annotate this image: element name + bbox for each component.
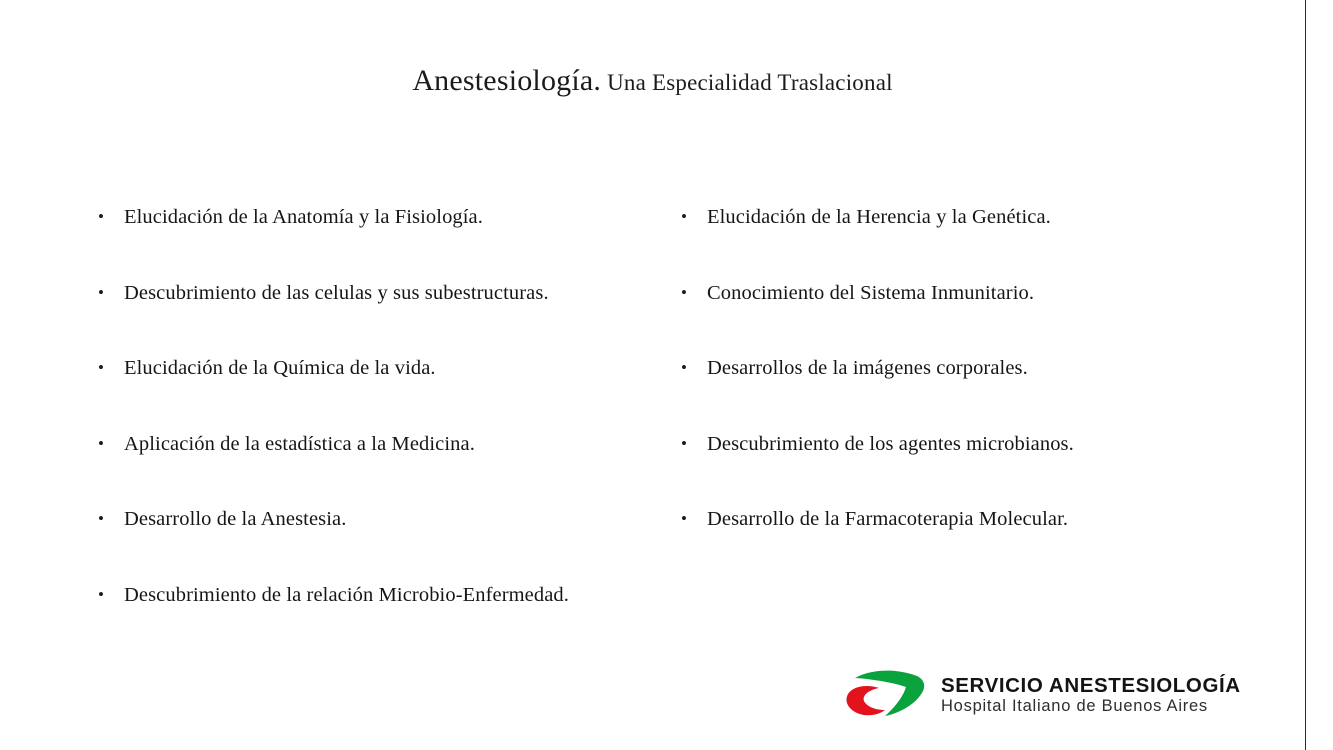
list-item: • Elucidación de la Anatomía y la Fisiol… (98, 204, 668, 280)
list-item: • Elucidación de la Herencia y la Genéti… (681, 204, 1241, 280)
list-item-label: Elucidación de la Anatomía y la Fisiolog… (124, 204, 668, 230)
bullet-icon: • (98, 431, 124, 457)
bullet-icon: • (98, 204, 124, 230)
list-item: • Descubrimiento de la relación Microbio… (98, 582, 668, 658)
list-item: • Conocimiento del Sistema Inmunitario. (681, 280, 1241, 356)
list-item-label: Conocimiento del Sistema Inmunitario. (707, 280, 1241, 306)
list-item: • Desarrollos de la imágenes corporales. (681, 355, 1241, 431)
list-item-label: Descubrimiento de la relación Microbio-E… (124, 582, 668, 608)
slide-canvas: Anestesiología.Una Especialidad Traslaci… (0, 0, 1333, 750)
list-item: • Aplicación de la estadística a la Medi… (98, 431, 668, 507)
list-item: • Desarrollo de la Anestesia. (98, 506, 668, 582)
list-item-label: Desarrollo de la Farmacoterapia Molecula… (707, 506, 1241, 532)
bullet-icon: • (681, 431, 707, 457)
list-item-label: Descubrimiento de las celulas y sus sube… (124, 280, 668, 306)
bullet-icon: • (681, 506, 707, 532)
list-item-label: Elucidación de la Química de la vida. (124, 355, 668, 381)
list-item: • Descubrimiento de las celulas y sus su… (98, 280, 668, 356)
list-item-label: Desarrollo de la Anestesia. (124, 506, 668, 532)
bullet-column-right: • Elucidación de la Herencia y la Genéti… (681, 204, 1241, 582)
bullet-icon: • (681, 204, 707, 230)
page-title: Anestesiología.Una Especialidad Traslaci… (0, 66, 1305, 96)
logo-subtitle: Hospital Italiano de Buenos Aires (941, 697, 1268, 716)
list-item: • Descubrimiento de los agentes microbia… (681, 431, 1241, 507)
list-item-label: Descubrimiento de los agentes microbiano… (707, 431, 1241, 457)
bullet-column-left: • Elucidación de la Anatomía y la Fisiol… (98, 204, 668, 657)
bullet-icon: • (98, 506, 124, 532)
leaf-and-crescent-logo-mark-icon (843, 665, 935, 723)
bullet-icon: • (681, 280, 707, 306)
bullet-icon: • (98, 355, 124, 381)
bullet-icon: • (98, 582, 124, 608)
list-item-label: Elucidación de la Herencia y la Genética… (707, 204, 1241, 230)
list-item-label: Aplicación de la estadística a la Medici… (124, 431, 668, 457)
list-item: • Desarrollo de la Farmacoterapia Molecu… (681, 506, 1241, 582)
logo-text-block: SERVICIO ANESTESIOLOGÍA Hospital Italian… (941, 673, 1268, 716)
logo-title: SERVICIO ANESTESIOLOGÍA (941, 675, 1268, 697)
title-main-text: Anestesiología. (412, 64, 601, 97)
organization-logo: SERVICIO ANESTESIOLOGÍA Hospital Italian… (843, 664, 1268, 724)
slide-right-edge-rule (1305, 0, 1306, 750)
bullet-icon: • (98, 280, 124, 306)
list-item-label: Desarrollos de la imágenes corporales. (707, 355, 1241, 381)
list-item: • Elucidación de la Química de la vida. (98, 355, 668, 431)
title-subtitle-text: Una Especialidad Traslacional (607, 70, 893, 95)
bullet-icon: • (681, 355, 707, 381)
